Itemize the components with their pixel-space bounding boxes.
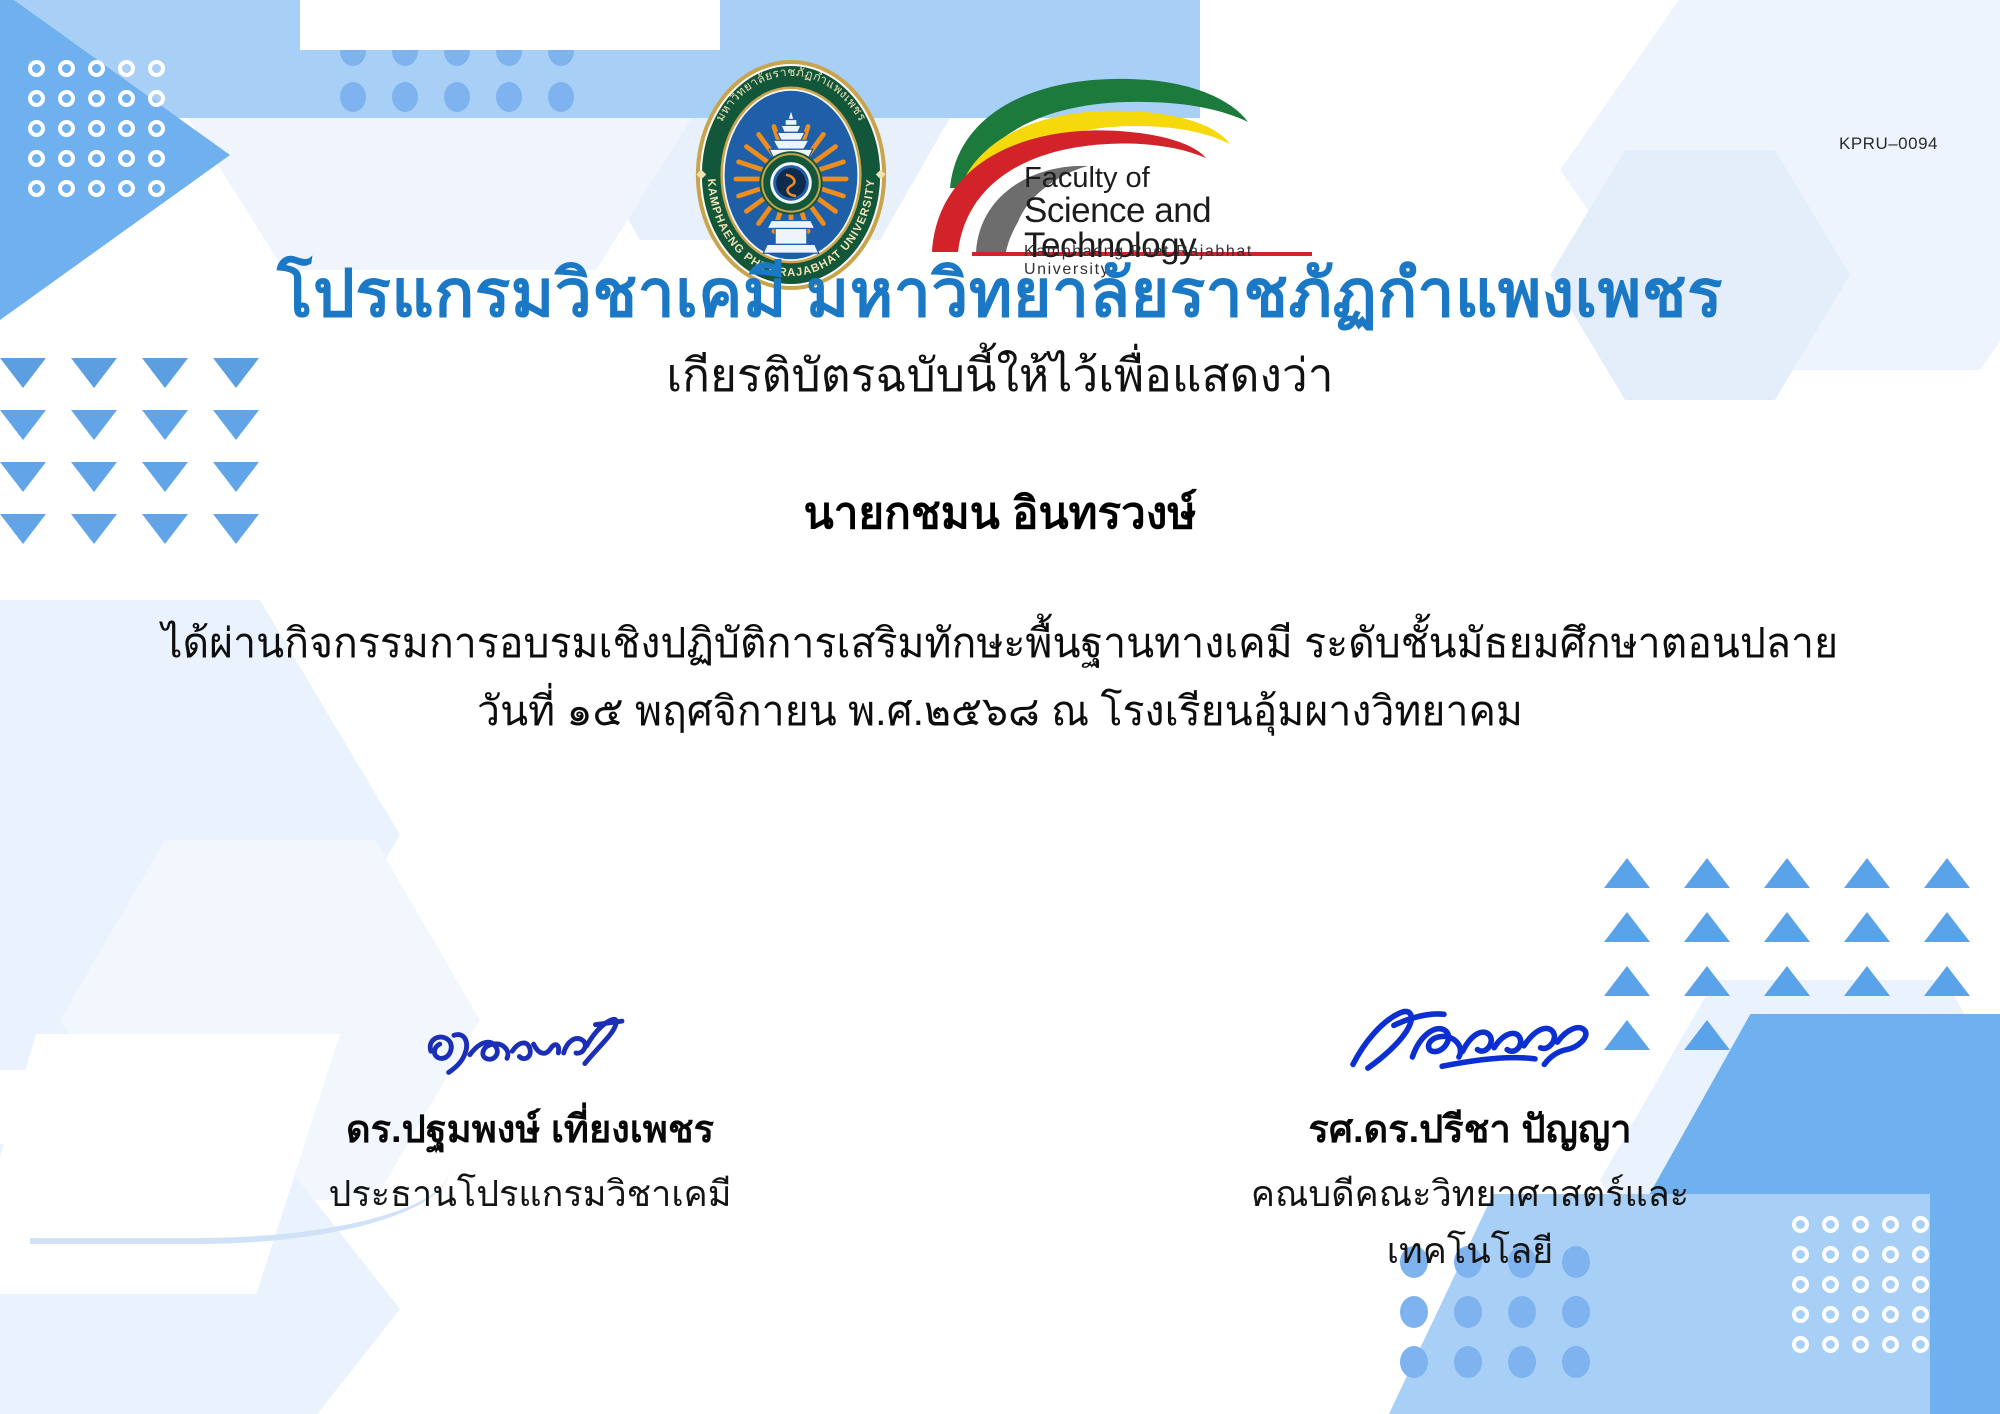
- signature-image-right: [1210, 1000, 1730, 1088]
- certificate-body: ได้ผ่านกิจกรรมการอบรมเชิงปฏิบัติการเสริม…: [0, 610, 2000, 745]
- page-title: โปรแกรมวิชาเคมี มหาวิทยาลัยราชภัฏกำแพงเพ…: [0, 256, 2000, 332]
- faculty-of-science-and-technology-logo-icon: Faculty of Science and Technology Kampha…: [918, 66, 1318, 271]
- signature-row: ดร.ปฐมพงษ์ เที่ยงเพชร ประธานโปรแกรมวิชาเ…: [0, 1000, 2000, 1279]
- certificate-page: KPRU–0094: [0, 0, 2000, 1414]
- signature-name-left: ดร.ปฐมพงษ์ เที่ยงเพชร: [270, 1098, 790, 1159]
- signature-role-left: ประธานโปรแกรมวิชาเคมี: [270, 1165, 790, 1222]
- certificate-subtitle: เกียรติบัตรฉบับนี้ให้ไว้เพื่อแสดงว่า: [0, 348, 2000, 403]
- certificate-content: KPRU–0094: [0, 0, 2000, 1414]
- signature-block-left: ดร.ปฐมพงษ์ เที่ยงเพชร ประธานโปรแกรมวิชาเ…: [270, 1000, 790, 1279]
- body-line-2: วันที่ ๑๕ พฤศจิกายน พ.ศ.๒๕๖๘ ณ โรงเรียนอ…: [0, 678, 2000, 746]
- body-line-1: ได้ผ่านกิจกรรมการอบรมเชิงปฏิบัติการเสริม…: [0, 610, 2000, 678]
- recipient-name: นายกชมน อินทรวงษ์: [0, 478, 2000, 548]
- signature-name-right: รศ.ดร.ปรีชา ปัญญา: [1210, 1098, 1730, 1159]
- faculty-logo-line1: Faculty of: [1024, 164, 1318, 193]
- signature-image-left: [270, 1000, 790, 1088]
- signature-role-right: คณบดีคณะวิทยาศาสตร์และเทคโนโลยี: [1210, 1165, 1730, 1279]
- signature-block-right: รศ.ดร.ปรีชา ปัญญา คณบดีคณะวิทยาศาสตร์และ…: [1210, 1000, 1730, 1279]
